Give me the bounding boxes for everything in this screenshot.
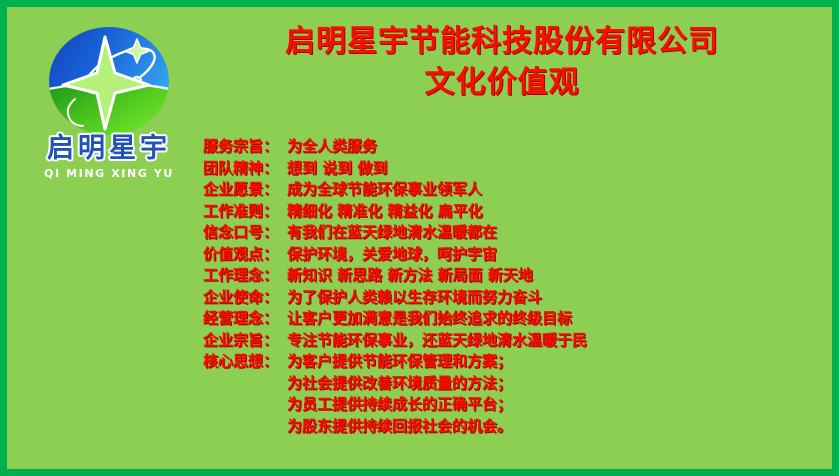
value-text: 专注节能环保事业，还蓝天绿地清水温暖于民	[287, 329, 823, 350]
value-row: 核心思想： 为客户提供节能环保管理和方案；	[203, 350, 823, 372]
value-row: 服务宗旨： 为全人类服务	[203, 135, 823, 157]
value-text: 保护环境，关爱地球，呵护宇宙	[287, 243, 823, 264]
title-line-company: 启明星宇节能科技股份有限公司	[192, 21, 812, 62]
value-row: 工作理念： 新知识 新思路 新方法 新局面 新天地	[203, 264, 823, 286]
value-row: 信念口号： 有我们在蓝天绿地清水温暖都在	[203, 221, 823, 243]
value-text: 为了保护人类赖以生存环境而努力奋斗	[287, 286, 823, 307]
value-label: 企业宗旨：	[203, 329, 287, 350]
value-text: 为社会提供改善环境质量的方法；	[287, 372, 823, 393]
value-text: 为客户提供节能环保管理和方案；	[287, 350, 823, 371]
value-label: 团队精神：	[203, 157, 287, 178]
value-label: 核心思想：	[203, 350, 287, 371]
culture-values-poster: 启明星宇 QI MING XING YU 启明星宇节能科技股份有限公司 文化价值…	[0, 0, 839, 476]
value-text: 为员工提供持续成长的正确平台；	[287, 393, 823, 414]
value-row: 核心思想： 为社会提供改善环境质量的方法；	[203, 372, 823, 394]
value-label: 经营理念：	[203, 307, 287, 328]
value-text: 有我们在蓝天绿地清水温暖都在	[287, 221, 823, 242]
value-text: 想到 说到 做到	[287, 157, 823, 178]
value-label: 服务宗旨：	[203, 135, 287, 156]
value-label: 价值观点：	[203, 243, 287, 264]
value-text: 为股东提供持续回报社会的机会。	[287, 415, 823, 436]
value-text: 成为全球节能环保事业领军人	[287, 178, 823, 199]
value-row: 企业愿景： 成为全球节能环保事业领军人	[203, 178, 823, 200]
poster-content-area: 启明星宇 QI MING XING YU 启明星宇节能科技股份有限公司 文化价值…	[7, 7, 832, 469]
value-row: 价值观点： 保护环境，关爱地球，呵护宇宙	[203, 243, 823, 265]
value-label: 工作准则：	[203, 200, 287, 221]
value-row: 经营理念： 让客户更加满意是我们始终追求的终级目标	[203, 307, 823, 329]
value-label: 信念口号：	[203, 221, 287, 242]
value-row: 团队精神： 想到 说到 做到	[203, 157, 823, 179]
value-text: 让客户更加满意是我们始终追求的终级目标	[287, 307, 823, 328]
title-line-subject: 文化价值观	[192, 62, 812, 103]
value-row: 企业使命： 为了保护人类赖以生存环境而努力奋斗	[203, 286, 823, 308]
value-label: 企业使命：	[203, 286, 287, 307]
page-title: 启明星宇节能科技股份有限公司 文化价值观	[192, 21, 812, 103]
value-row: 核心思想： 为股东提供持续回报社会的机会。	[203, 415, 823, 437]
logo-wordmark: 启明星宇	[29, 135, 189, 162]
culture-values-list: 服务宗旨： 为全人类服务 团队精神： 想到 说到 做到 企业愿景： 成为全球节能…	[203, 135, 823, 436]
value-label: 工作理念：	[203, 264, 287, 285]
value-row: 核心思想： 为员工提供持续成长的正确平台；	[203, 393, 823, 415]
company-logo: 启明星宇 QI MING XING YU	[29, 25, 189, 183]
logo-pinyin: QI MING XING YU	[29, 168, 189, 179]
value-text: 为全人类服务	[287, 135, 823, 156]
star-orbit-leaf-emblem	[45, 25, 173, 137]
value-row: 企业宗旨： 专注节能环保事业，还蓝天绿地清水温暖于民	[203, 329, 823, 351]
value-text: 精细化 精准化 精益化 扁平化	[287, 200, 823, 221]
value-label: 企业愿景：	[203, 178, 287, 199]
value-row: 工作准则： 精细化 精准化 精益化 扁平化	[203, 200, 823, 222]
value-text: 新知识 新思路 新方法 新局面 新天地	[287, 264, 823, 285]
